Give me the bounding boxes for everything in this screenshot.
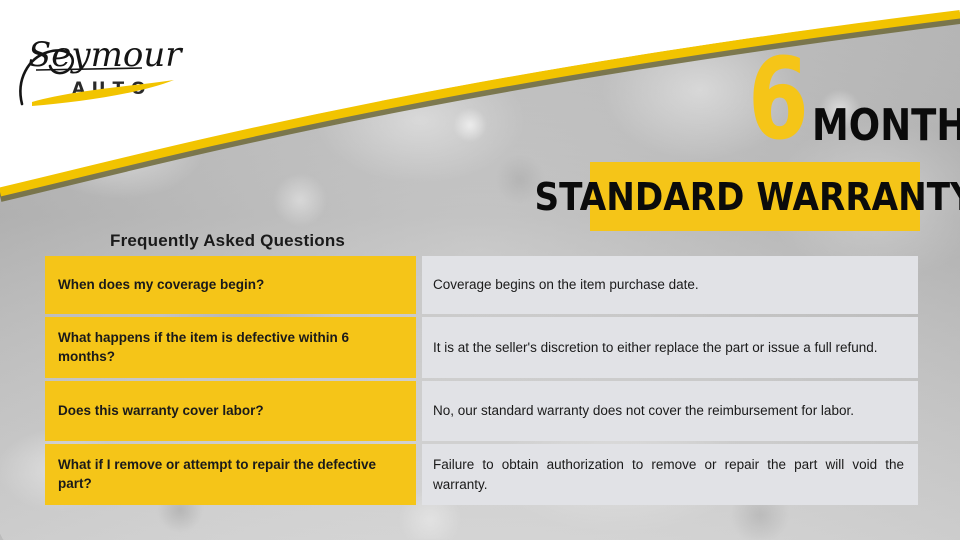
table-row: Does this warranty cover labor? No, our …	[45, 381, 918, 441]
faq-heading: Frequently Asked Questions	[110, 231, 345, 251]
warranty-slide: Seymour AUTO 6 MONTH STANDARD WARRANTY F…	[0, 0, 960, 540]
faq-answer-cell: It is at the seller's discretion to eith…	[422, 317, 918, 378]
brand-logo: Seymour AUTO	[14, 18, 194, 110]
warranty-duration-unit: MONTH	[812, 104, 960, 148]
faq-answer-cell: Coverage begins on the item purchase dat…	[422, 256, 918, 314]
faq-question-cell: When does my coverage begin?	[45, 256, 416, 314]
table-row: What happens if the item is defective wi…	[45, 317, 918, 378]
faq-table: When does my coverage begin? Coverage be…	[45, 256, 918, 505]
standard-warranty-banner: STANDARD WARRANTY	[590, 162, 920, 231]
warranty-duration-number: 6	[748, 44, 806, 156]
table-row: When does my coverage begin? Coverage be…	[45, 256, 918, 314]
faq-question-cell: What happens if the item is defective wi…	[45, 317, 416, 378]
table-row: What if I remove or attempt to repair th…	[45, 444, 918, 505]
faq-answer-cell: No, our standard warranty does not cover…	[422, 381, 918, 441]
faq-answer-cell: Failure to obtain authorization to remov…	[422, 444, 918, 505]
faq-question-cell: Does this warranty cover labor?	[45, 381, 416, 441]
standard-warranty-label: STANDARD WARRANTY	[535, 175, 960, 219]
faq-question-cell: What if I remove or attempt to repair th…	[45, 444, 416, 505]
